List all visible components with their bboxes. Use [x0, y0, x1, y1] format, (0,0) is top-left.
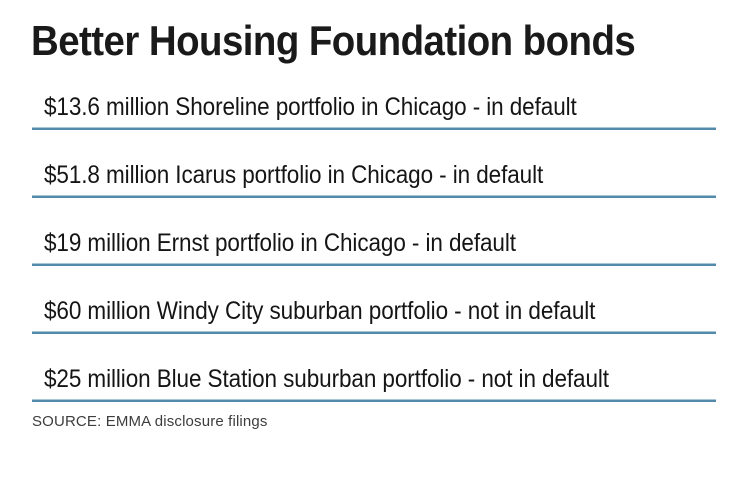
- row-divider: [32, 331, 716, 334]
- bond-row-label: $13.6 million Shoreline portfolio in Chi…: [44, 92, 656, 123]
- row-divider: [32, 263, 716, 266]
- bond-list: $13.6 million Shoreline portfolio in Chi…: [0, 86, 740, 426]
- list-item: $60 million Windy City suburban portfoli…: [0, 290, 740, 358]
- bond-row-label: $60 million Windy City suburban portfoli…: [44, 296, 656, 327]
- bond-row-label: $25 million Blue Station suburban portfo…: [44, 364, 656, 395]
- page-title: Better Housing Foundation bonds: [31, 16, 662, 66]
- infographic-card: Better Housing Foundation bonds $13.6 mi…: [0, 0, 740, 482]
- row-divider: [32, 127, 716, 130]
- bond-row-label: $19 million Ernst portfolio in Chicago -…: [44, 228, 656, 259]
- list-item: $19 million Ernst portfolio in Chicago -…: [0, 222, 740, 290]
- bond-row-label: $51.8 million Icarus portfolio in Chicag…: [44, 160, 656, 191]
- list-item: $51.8 million Icarus portfolio in Chicag…: [0, 154, 740, 222]
- source-note: SOURCE: EMMA disclosure filings: [32, 412, 268, 432]
- list-item: $13.6 million Shoreline portfolio in Chi…: [0, 86, 740, 154]
- row-divider: [32, 399, 716, 402]
- row-divider: [32, 195, 716, 198]
